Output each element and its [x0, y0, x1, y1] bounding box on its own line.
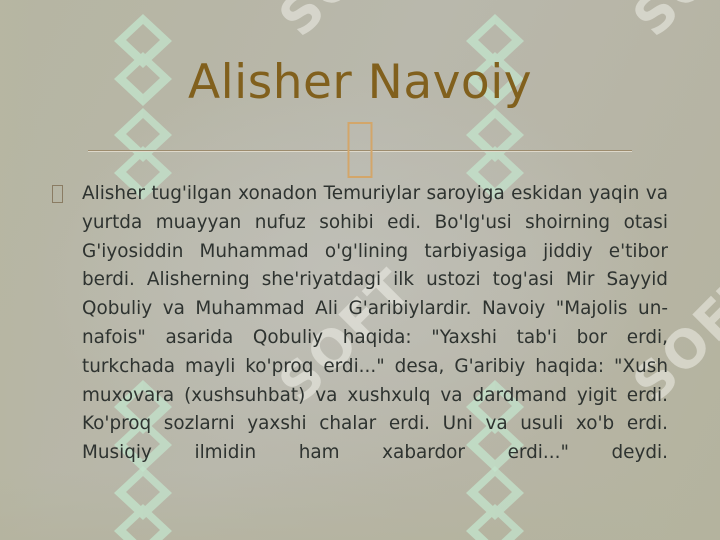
ornament-glyph-wrapper — [340, 122, 381, 178]
title-divider-ornament — [88, 150, 632, 152]
missing-glyph-box-icon — [348, 122, 373, 178]
body-bullet-item: Alisher tug'ilgan xonadon Temuriylar sar… — [52, 180, 668, 497]
page-title: Alisher Navoiy — [0, 58, 720, 109]
body-paragraph: Alisher tug'ilgan xonadon Temuriylar sar… — [82, 180, 668, 497]
slide-canvas: SOFTSOFTSOFTSOFT Alisher Navoiy Alisher … — [0, 0, 720, 540]
missing-glyph-box-bullet-icon — [52, 185, 63, 203]
